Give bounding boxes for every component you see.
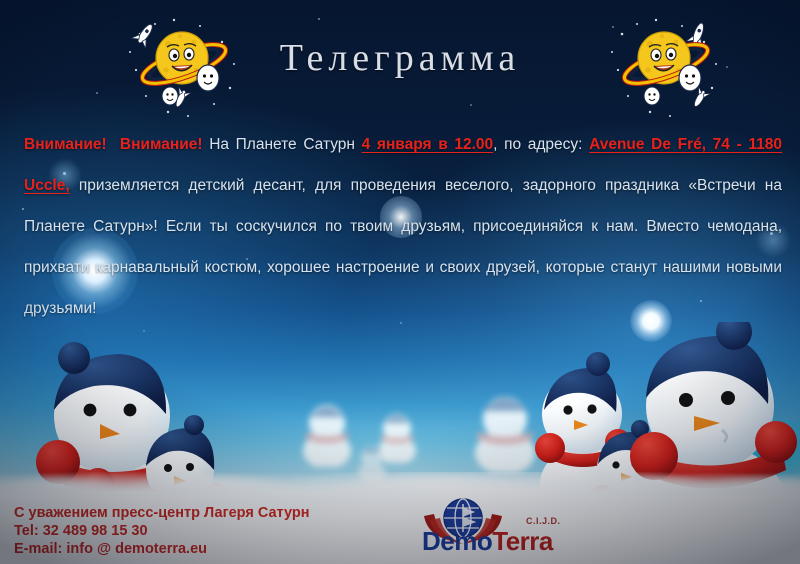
event-datetime: 4 января в 12.00 [362,136,494,153]
footer-line-phone: Tel: 32 489 98 15 30 [14,522,310,540]
body-text-1: На Планете Сатурн [203,136,362,153]
contact-footer: С уважением пресс-центр Лагеря Сатурн Te… [14,504,310,558]
body-text-2: , по адресу: [493,136,589,153]
demoterra-logo: C.I.J.D. DemoTerra [418,494,588,556]
alert-word-1: Внимание! [24,136,107,153]
logo-demo-part: Demo [422,526,492,556]
logo-terra-part: Terra [492,526,553,556]
announcement-body: Внимание! Внимание! На Планете Сатурн 4 … [24,124,782,329]
footer-line-email: E-mail: info @ demoterra.eu [14,540,310,558]
logo-wordmark: DemoTerra [422,526,553,557]
body-text-3: приземляется детский десант, для проведе… [24,177,782,317]
footer-line-signature: С уважением пресс-центр Лагеря Сатурн [14,504,310,522]
alert-word-2: Внимание! [120,136,203,153]
page-title: Телеграмма [0,36,800,80]
poster-canvas: Телеграмма Внимание! Внимание! На Планет… [0,0,800,564]
logo-cijd-label: C.I.J.D. [526,516,561,526]
